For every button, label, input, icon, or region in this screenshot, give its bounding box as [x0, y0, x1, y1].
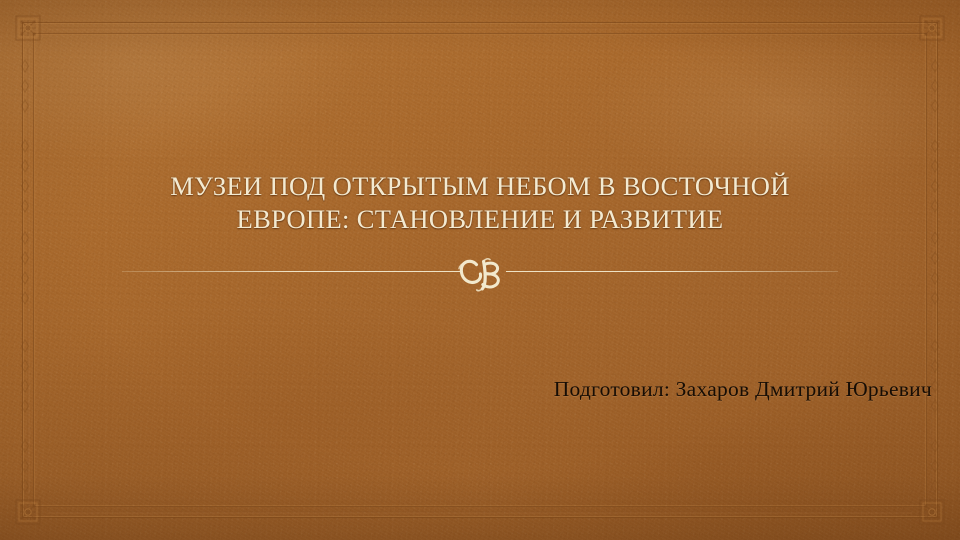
- slide-title: МУЗЕИ ПОД ОТКРЫТЫМ НЕБОМ В ВОСТОЧНОЙ ЕВР…: [112, 170, 848, 236]
- subtitle-placeholder[interactable]: Подготовил: Захаров Дмитрий Юрьевич: [300, 374, 932, 404]
- corner-ornament-bottom-right: [920, 500, 944, 524]
- divider-rule-right: [506, 271, 838, 272]
- script-cb-fleuron-ornament-icon: [455, 252, 509, 296]
- title-divider: [0, 258, 960, 292]
- title-slide: МУЗЕИ ПОД ОТКРЫТЫМ НЕБОМ В ВОСТОЧНОЙ ЕВР…: [0, 0, 960, 540]
- title-placeholder[interactable]: МУЗЕИ ПОД ОТКРЫТЫМ НЕБОМ В ВОСТОЧНОЙ ЕВР…: [112, 170, 848, 236]
- divider-rule-left: [122, 271, 462, 272]
- corner-ornament-top-right: [920, 16, 944, 40]
- corner-ornament-bottom-left: [16, 500, 40, 524]
- corner-ornament-top-left: [16, 16, 40, 40]
- slide-subtitle: Подготовил: Захаров Дмитрий Юрьевич: [300, 374, 932, 404]
